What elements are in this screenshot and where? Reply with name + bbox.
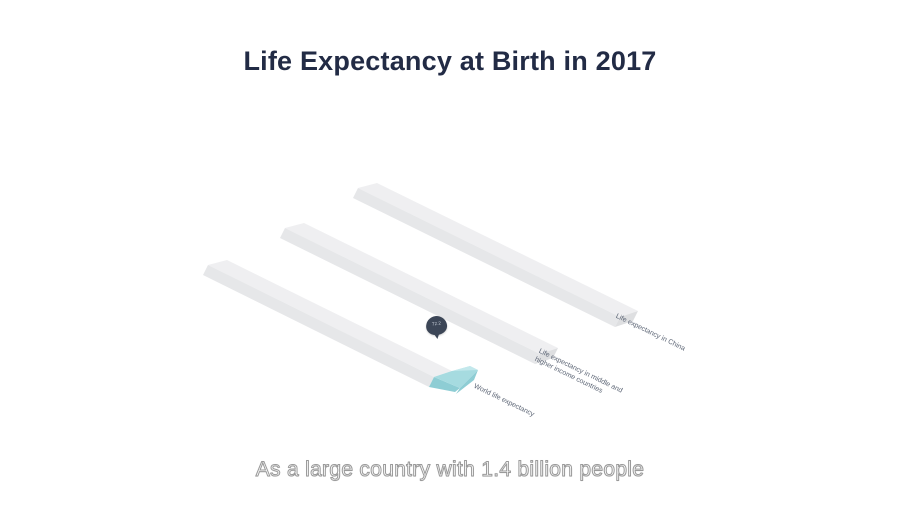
caption-text: As a large country with 1.4 billion peop… <box>0 458 900 482</box>
bars-svg <box>0 0 900 506</box>
bar-china-front-face <box>353 188 620 327</box>
bar-china[interactable] <box>353 183 638 327</box>
bar-world-top-face <box>208 260 452 377</box>
chart-canvas <box>0 0 900 506</box>
value-pin-tail <box>434 333 441 340</box>
value-pin[interactable]: 72.2 <box>426 316 448 340</box>
bar-middle-income[interactable] <box>280 223 558 364</box>
visualization-stage: Life Expectancy at Birth in 2017 <box>0 0 900 506</box>
